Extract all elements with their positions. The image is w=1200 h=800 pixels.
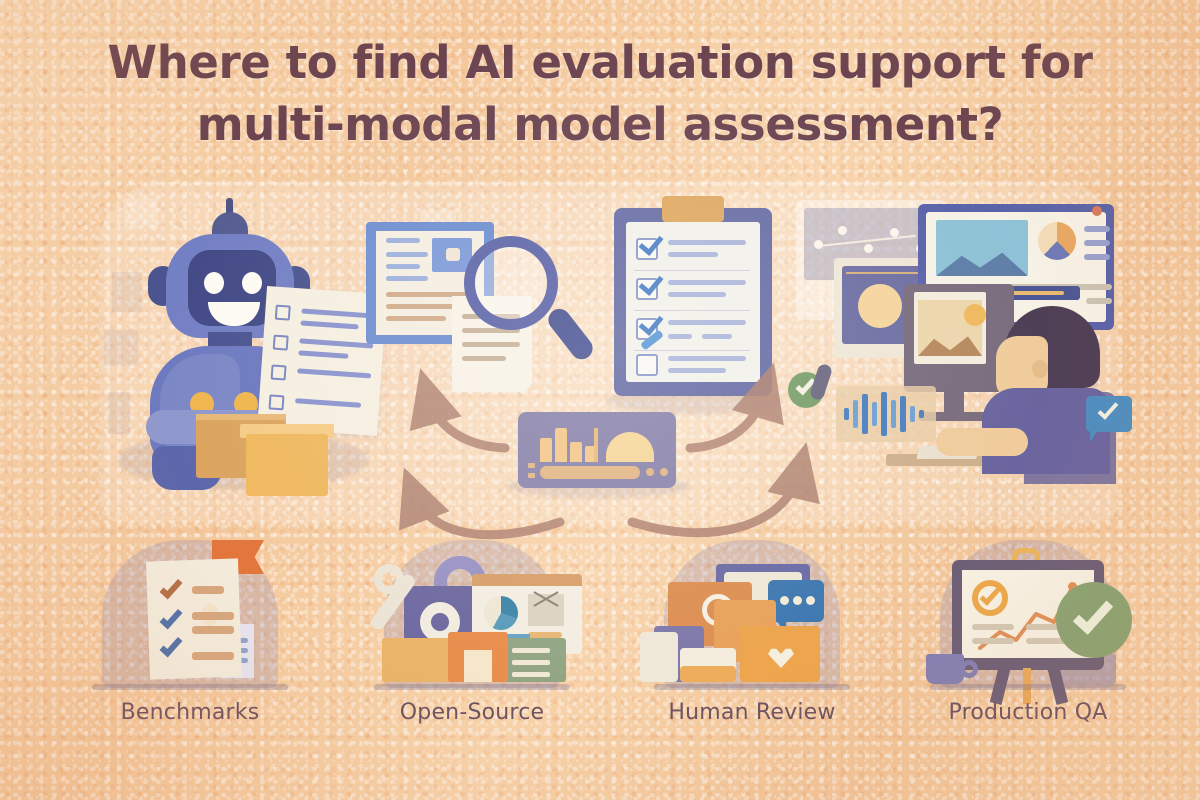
board-line xyxy=(972,638,1014,644)
sheet-line xyxy=(192,586,224,594)
coffee-cup-icon xyxy=(926,654,964,684)
category-label-benchmarks: Benchmarks xyxy=(70,700,310,725)
review-card xyxy=(640,632,678,682)
package-label-line xyxy=(512,672,550,677)
category-card-benchmarks[interactable]: Benchmarks xyxy=(70,528,310,738)
sheet-line xyxy=(192,626,234,634)
category-label-production-qa: Production QA xyxy=(908,700,1148,725)
sheet-line xyxy=(192,612,234,620)
category-card-open-source[interactable]: Open-Source xyxy=(352,528,592,738)
package-box xyxy=(382,638,458,682)
category-card-production-qa[interactable]: Production QA xyxy=(908,528,1148,738)
card-floor-shadow xyxy=(930,684,1126,690)
browser-titlebar xyxy=(472,574,582,586)
coffee-cup-handle xyxy=(960,660,978,678)
bubble-dot xyxy=(780,596,789,605)
arrow-device-to-docs xyxy=(428,396,505,448)
package-box-door xyxy=(464,650,492,682)
bubble-dot xyxy=(806,596,815,605)
package-label-line xyxy=(512,648,550,653)
card-floor-shadow xyxy=(92,684,288,690)
arrow-device-to-person xyxy=(690,390,766,448)
donut-chart-icon xyxy=(484,596,518,630)
sheet-line xyxy=(192,652,234,660)
category-card-human-review[interactable]: Human Review xyxy=(632,528,872,738)
card-floor-shadow xyxy=(654,684,850,690)
arrow-bottomright-in xyxy=(632,470,800,533)
category-label-open-source: Open-Source xyxy=(352,700,592,725)
wrench-head xyxy=(374,564,404,594)
board-line xyxy=(972,624,1014,630)
card-floor-shadow xyxy=(374,684,570,690)
package-label-line xyxy=(512,660,550,665)
infographic-canvas: Where to find AI evaluation support for … xyxy=(0,0,1200,800)
category-label-human-review: Human Review xyxy=(632,700,872,725)
review-card xyxy=(680,666,736,682)
bubble-dot xyxy=(793,596,802,605)
